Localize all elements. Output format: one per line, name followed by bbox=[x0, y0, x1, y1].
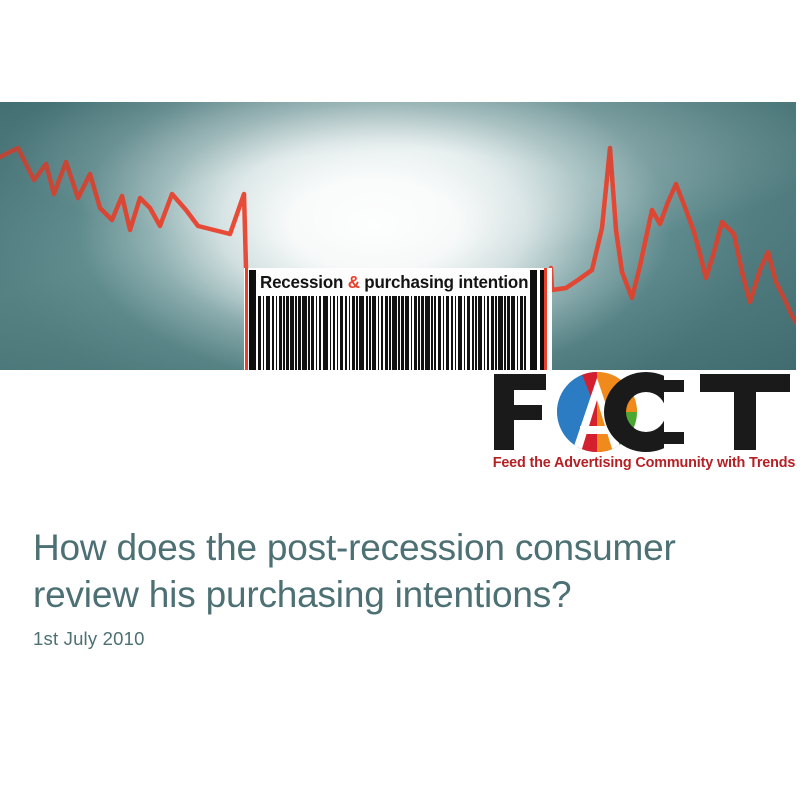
barcode-bar bbox=[316, 296, 318, 370]
logo-letter-c bbox=[604, 372, 700, 452]
barcode-label-ampersand: & bbox=[348, 272, 360, 292]
barcode-bar bbox=[475, 296, 477, 370]
barcode-bars bbox=[258, 296, 528, 370]
barcode-bar bbox=[381, 296, 383, 370]
barcode-bar bbox=[319, 296, 321, 370]
barcode-bar bbox=[491, 296, 494, 370]
fact-logo: Feed the Advertising Community with Tren… bbox=[488, 370, 796, 478]
barcode-bar bbox=[464, 296, 466, 370]
barcode-bar bbox=[359, 296, 364, 370]
barcode-bar bbox=[421, 296, 423, 370]
barcode-label-text: Recession & purchasing intention bbox=[260, 269, 520, 295]
barcode-bar bbox=[443, 296, 445, 370]
barcode-bar bbox=[495, 296, 497, 370]
barcode-bar bbox=[337, 296, 339, 370]
barcode-bar bbox=[411, 296, 413, 370]
presentation-slide: Recession & purchasing intention bbox=[0, 0, 800, 800]
barcode-bar bbox=[392, 296, 397, 370]
barcode-bar bbox=[434, 296, 436, 370]
barcode-bar bbox=[524, 296, 526, 370]
hero-banner-image: Recession & purchasing intention bbox=[0, 102, 796, 370]
barcode-bar bbox=[446, 296, 450, 370]
barcode-bar bbox=[385, 296, 388, 370]
logo-letter-f bbox=[494, 374, 546, 450]
barcode-guard-red-right bbox=[544, 268, 547, 370]
barcode-bar bbox=[414, 296, 417, 370]
barcode-bar bbox=[401, 296, 403, 370]
title-block: How does the post-recession consumer rev… bbox=[33, 524, 763, 618]
barcode-bar bbox=[487, 296, 489, 370]
barcode-bar bbox=[455, 296, 457, 370]
barcode-bar bbox=[352, 296, 355, 370]
barcode-bar bbox=[302, 296, 307, 370]
barcode-bar bbox=[504, 296, 506, 370]
barcode-bar bbox=[458, 296, 463, 370]
barcode-bar bbox=[389, 296, 391, 370]
barcode-bar bbox=[438, 296, 441, 370]
barcode-label-prefix: Recession bbox=[260, 272, 348, 292]
barcode-bar bbox=[330, 296, 332, 370]
barcode-graphic: Recession & purchasing intention bbox=[244, 268, 552, 370]
barcode-guard-bar-right bbox=[530, 270, 537, 370]
barcode-bar bbox=[498, 296, 503, 370]
fact-tagline: Feed the Advertising Community with Tren… bbox=[492, 455, 796, 471]
barcode-bar bbox=[369, 296, 371, 370]
barcode-bar bbox=[333, 296, 335, 370]
barcode-bar bbox=[286, 296, 288, 370]
fact-wordmark bbox=[488, 370, 796, 454]
barcode-bar bbox=[467, 296, 470, 370]
barcode-bar bbox=[405, 296, 409, 370]
barcode-bar bbox=[290, 296, 294, 370]
barcode-guard-bar-right-thin bbox=[540, 270, 544, 370]
barcode-bar bbox=[472, 296, 474, 370]
logo-letter-t bbox=[700, 374, 790, 450]
barcode-bar bbox=[511, 296, 515, 370]
barcode-label-suffix: purchasing intention bbox=[360, 272, 529, 292]
barcode-bar bbox=[263, 296, 265, 370]
barcode-bar bbox=[520, 296, 523, 370]
barcode-bar bbox=[266, 296, 271, 370]
barcode-bar bbox=[484, 296, 486, 370]
barcode-bar bbox=[258, 296, 261, 370]
barcode-bar bbox=[323, 296, 328, 370]
barcode-guard-bar-left bbox=[249, 270, 256, 370]
barcode-bar bbox=[276, 296, 278, 370]
barcode-guard-red-left bbox=[245, 268, 248, 370]
barcode-bar bbox=[295, 296, 297, 370]
barcode-bar bbox=[308, 296, 310, 370]
barcode-bar bbox=[298, 296, 300, 370]
barcode-bar bbox=[478, 296, 482, 370]
barcode-bar bbox=[279, 296, 282, 370]
barcode-bar bbox=[425, 296, 430, 370]
barcode-bar bbox=[349, 296, 351, 370]
barcode-bar bbox=[418, 296, 420, 370]
barcode-bar bbox=[378, 296, 380, 370]
barcode-bar bbox=[366, 296, 368, 370]
barcode-bar bbox=[311, 296, 314, 370]
page-title: How does the post-recession consumer rev… bbox=[33, 524, 763, 618]
barcode-bar bbox=[517, 296, 519, 370]
barcode-bar bbox=[398, 296, 400, 370]
slide-date: 1st July 2010 bbox=[33, 628, 145, 650]
barcode-bar bbox=[272, 296, 274, 370]
barcode-bar bbox=[372, 296, 376, 370]
barcode-bar bbox=[340, 296, 344, 370]
barcode-bar bbox=[431, 296, 433, 370]
barcode-bar bbox=[283, 296, 285, 370]
barcode-bar bbox=[507, 296, 509, 370]
barcode-bar bbox=[345, 296, 347, 370]
barcode-bar bbox=[451, 296, 453, 370]
barcode-bar bbox=[356, 296, 358, 370]
